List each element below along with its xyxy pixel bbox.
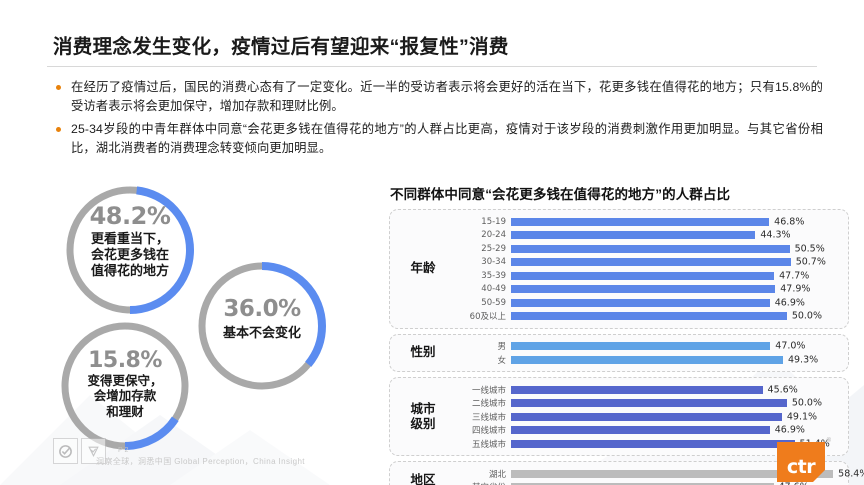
- chart-row-label: 一线城市: [452, 384, 511, 396]
- chart-bar-value: 50.0%: [787, 311, 822, 322]
- chart-row: 50-5946.9%: [452, 297, 842, 309]
- chart-bar-value: 49.3%: [783, 354, 818, 365]
- slide: 消费理念发生变化，疫情过后有望迎来“报复性”消费 在经历了疫情过后，国民的消费心…: [0, 0, 864, 485]
- chart-row-label: 其它省份: [452, 481, 511, 485]
- cert-badge-iso-icon: [53, 438, 78, 464]
- chart-bar-track: 47.0%: [511, 342, 842, 350]
- donut-a-svg: [60, 180, 200, 320]
- group-label-line: 级别: [394, 417, 452, 432]
- chart-row: 四线城市46.9%: [452, 424, 842, 436]
- chart-bar-value: 47.0%: [770, 341, 805, 352]
- chart-bar-track: 47.9%: [511, 285, 842, 293]
- bullet-dot-icon: [56, 127, 61, 132]
- chart-bar-track: 49.3%: [511, 356, 842, 364]
- chart-row: 男47.0%: [452, 340, 842, 352]
- chart-title: 不同群体中同意“会花更多钱在值得花的地方”的人群占比: [390, 183, 849, 203]
- chart-row: 60及以上50.0%: [452, 310, 842, 322]
- chart-bar-value: 50.7%: [791, 257, 826, 268]
- page-title: 消费理念发生变化，疫情过后有望迎来“报复性”消费: [53, 30, 509, 59]
- chart-bar-track: 50.5%: [511, 245, 842, 253]
- chart-bar-value: 46.8%: [769, 216, 804, 227]
- chart-bar-value: 47.9%: [775, 284, 810, 295]
- group-label-line: 年龄: [394, 261, 452, 276]
- chart-row-label: 五线城市: [452, 438, 511, 450]
- donut-b-svg: [192, 256, 332, 396]
- chart-bar: [511, 299, 770, 307]
- group-label-line: 性别: [394, 345, 452, 360]
- chart-bar: [511, 342, 770, 350]
- bullet-list: 在经历了疫情过后，国民的消费心态有了一定变化。近一半的受访者表示将会更好的活在当…: [53, 78, 823, 162]
- chart-row-label: 湖北: [452, 468, 511, 480]
- chart-row-label: 女: [452, 354, 511, 366]
- group-label-line: 城市: [394, 402, 452, 417]
- chart-group-0: 年龄15-1946.8%20-2444.3%25-2950.5%30-3450.…: [389, 209, 849, 329]
- chart-rows: 男47.0%女49.3%: [452, 339, 842, 368]
- chart-bar-track: 46.9%: [511, 299, 842, 307]
- chart-bar-value: 46.9%: [770, 425, 805, 436]
- chart-bar-value: 46.9%: [770, 297, 805, 308]
- chart-bar-track: 49.1%: [511, 413, 842, 421]
- bullet-dot-icon: [56, 85, 61, 90]
- chart-bar-value: 49.1%: [782, 411, 817, 422]
- chart-bar-track: 50.7%: [511, 258, 842, 266]
- chart-row: 25-2950.5%: [452, 243, 842, 255]
- bullet-item: 在经历了疫情过后，国民的消费心态有了一定变化。近一半的受访者表示将会更好的活在当…: [53, 78, 823, 116]
- chart-bar-track: 50.0%: [511, 312, 842, 320]
- registered-trademark-icon: ®: [827, 438, 831, 444]
- chart-bar: [511, 258, 791, 266]
- title-divider: [47, 66, 817, 67]
- chart-row-label: 20-24: [452, 230, 511, 240]
- chart-row-label: 30-34: [452, 257, 511, 267]
- chart-bar-track: 46.9%: [511, 426, 842, 434]
- chart-bar: [511, 413, 782, 421]
- chart-bar-value: 47.7%: [774, 270, 809, 281]
- bullet-text: 在经历了疫情过后，国民的消费心态有了一定变化。近一半的受访者表示将会更好的活在当…: [71, 78, 823, 116]
- chart-rows: 一线城市45.6%二线城市50.0%三线城市49.1%四线城市46.9%五线城市…: [452, 382, 842, 451]
- donut-group: 48.2% 更看重当下，会花更多钱在值得花的地方 36.0% 基本不会变化 15…: [55, 176, 385, 456]
- chart-bar: [511, 312, 787, 320]
- chart-bar: [511, 272, 774, 280]
- chart-group-label: 性别: [394, 345, 452, 360]
- chart-row-label: 三线城市: [452, 411, 511, 423]
- donut-c-svg: [55, 316, 195, 456]
- chart-row-label: 二线城市: [452, 397, 511, 409]
- chart-bar-value: 45.6%: [763, 384, 798, 395]
- chart-bar-value: 44.3%: [755, 230, 790, 241]
- bullet-text: 25-34岁段的中青年群体中同意“会花更多钱在值得花的地方”的人群占比更高，疫情…: [71, 120, 823, 158]
- chart-group-label: 城市级别: [394, 402, 452, 432]
- chart-row-label: 60及以上: [452, 310, 511, 322]
- chart-row: 二线城市50.0%: [452, 397, 842, 409]
- page-number: P 2: [118, 447, 128, 454]
- chart-row-label: 25-29: [452, 244, 511, 254]
- chart-bar: [511, 426, 770, 434]
- ctr-logo: ctr ®: [777, 442, 825, 485]
- chart-bar-value: 50.0%: [787, 398, 822, 409]
- chart-row: 30-3450.7%: [452, 256, 842, 268]
- chart-group-label: 地区: [394, 473, 452, 485]
- chart-bar: [511, 399, 787, 407]
- chart-row-label: 50-59: [452, 298, 511, 308]
- chart-rows: 15-1946.8%20-2444.3%25-2950.5%30-3450.7%…: [452, 214, 842, 324]
- chart-bar-track: 47.7%: [511, 272, 842, 280]
- chart-row: 15-1946.8%: [452, 216, 842, 228]
- footer-tagline: 洞察全球，洞悉中国 Global Perception，China Insigh…: [96, 456, 305, 467]
- chart-row-label: 四线城市: [452, 424, 511, 436]
- chart-bar: [511, 285, 775, 293]
- chart-row-label: 35-39: [452, 271, 511, 281]
- chart-bar: [511, 440, 795, 448]
- chart-row: 40-4947.9%: [452, 283, 842, 295]
- chart-bar-track: 46.8%: [511, 218, 842, 226]
- chart-bar: [511, 245, 790, 253]
- chart-bar-value: 58.4%: [833, 468, 864, 479]
- chart-row-label: 男: [452, 340, 511, 352]
- chart-bar-track: 45.6%: [511, 386, 842, 394]
- chart-group-1: 性别男47.0%女49.3%: [389, 334, 849, 373]
- group-label-line: 地区: [394, 473, 452, 485]
- chart-row: 一线城市45.6%: [452, 384, 842, 396]
- donut-chart-36: 36.0% 基本不会变化: [192, 256, 332, 396]
- chart-row: 三线城市49.1%: [452, 411, 842, 423]
- chart-row: 20-2444.3%: [452, 229, 842, 241]
- chart-group-label: 年龄: [394, 261, 452, 276]
- chart-bar: [511, 218, 769, 226]
- ctr-logo-text: ctr: [777, 442, 825, 482]
- bar-chart-panel: 不同群体中同意“会花更多钱在值得花的地方”的人群占比 年龄15-1946.8%2…: [389, 183, 849, 485]
- donut-chart-15: 15.8% 变得更保守，会增加存款和理财: [55, 316, 195, 456]
- chart-bar: [511, 231, 755, 239]
- bullet-item: 25-34岁段的中青年群体中同意“会花更多钱在值得花的地方”的人群占比更高，疫情…: [53, 120, 823, 158]
- chart-bar: [511, 356, 783, 364]
- chart-bar: [511, 386, 763, 394]
- donut-chart-48: 48.2% 更看重当下，会花更多钱在值得花的地方: [60, 180, 200, 320]
- chart-row: 35-3947.7%: [452, 270, 842, 282]
- chart-row-label: 40-49: [452, 284, 511, 294]
- check-circle-icon: [58, 444, 73, 459]
- chart-row: 女49.3%: [452, 354, 842, 366]
- chart-bar-value: 50.5%: [790, 243, 825, 254]
- chart-row-label: 15-19: [452, 217, 511, 227]
- chart-bar-track: 44.3%: [511, 231, 842, 239]
- chart-bar-track: 50.0%: [511, 399, 842, 407]
